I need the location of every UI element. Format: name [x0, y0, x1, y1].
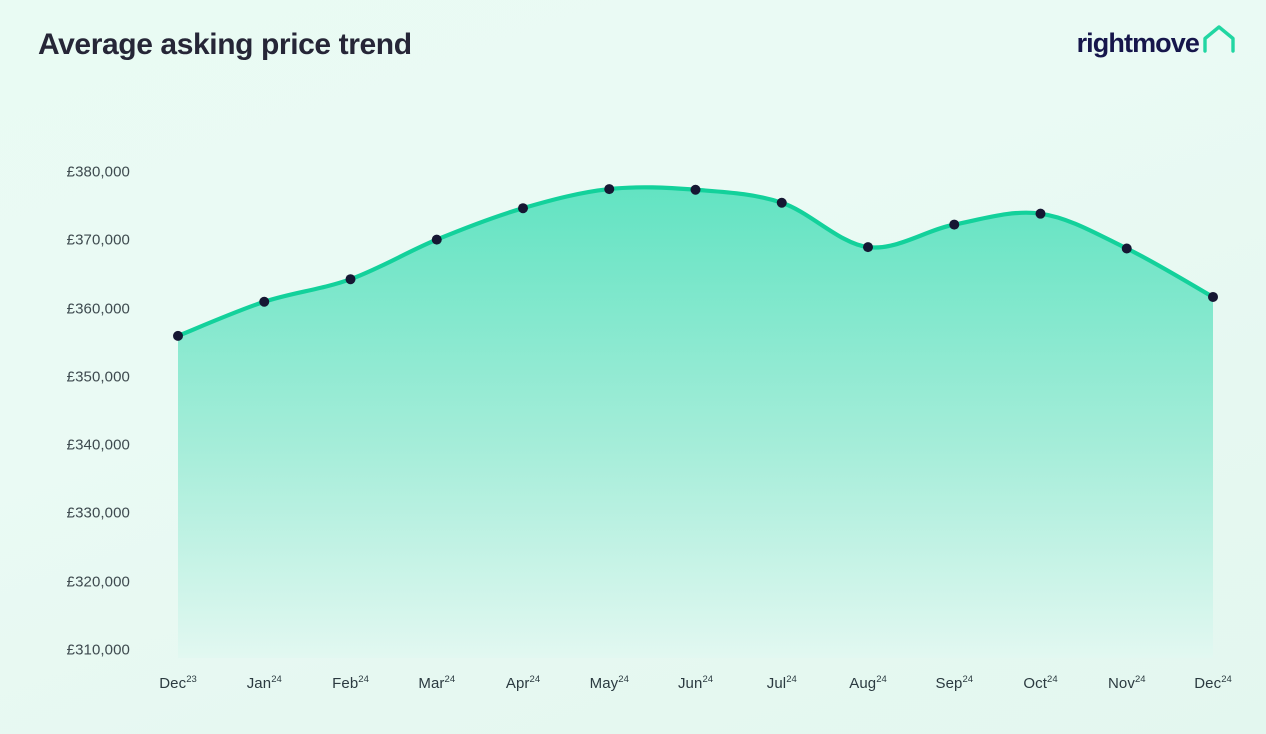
data-point-marker [949, 220, 959, 230]
data-point-marker [173, 331, 183, 341]
data-point-marker [1036, 209, 1046, 219]
data-point-marker [863, 242, 873, 252]
data-point-marker [777, 198, 787, 208]
area-fill [178, 187, 1213, 658]
data-point-marker [1208, 292, 1218, 302]
data-point-marker [346, 274, 356, 284]
data-point-marker [518, 203, 528, 213]
data-point-marker [432, 235, 442, 245]
price-trend-series [0, 0, 1266, 734]
data-point-marker [604, 184, 614, 194]
data-point-marker [1122, 243, 1132, 253]
chart-plot-area: £380,000£370,000£360,000£350,000£340,000… [0, 0, 1266, 734]
chart-page: Average asking price trend rightmove £38… [0, 0, 1266, 734]
data-point-marker [259, 297, 269, 307]
data-point-marker [691, 185, 701, 195]
